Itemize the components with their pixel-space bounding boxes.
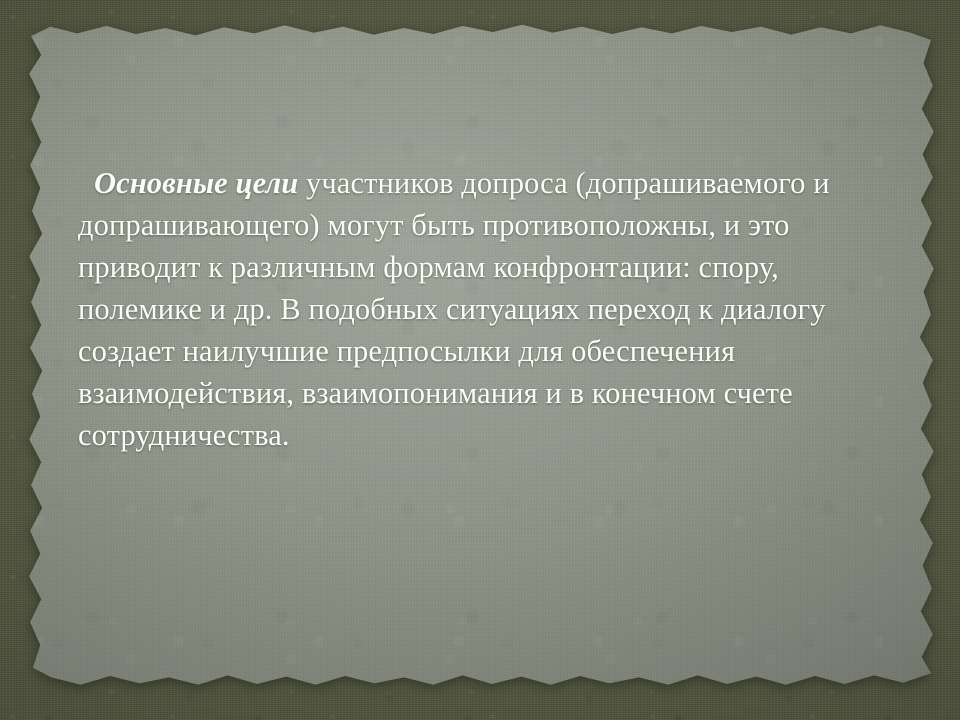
slide-body-text: Основные цели участников допроса (допраш… (78, 162, 890, 456)
lead-phrase: Основные цели (94, 166, 298, 200)
body-rest-text: участников допроса (допрашиваемого и доп… (78, 166, 830, 452)
presentation-slide: Основные цели участников допроса (допраш… (0, 0, 960, 720)
body-paragraph: Основные цели участников допроса (допраш… (78, 162, 890, 456)
